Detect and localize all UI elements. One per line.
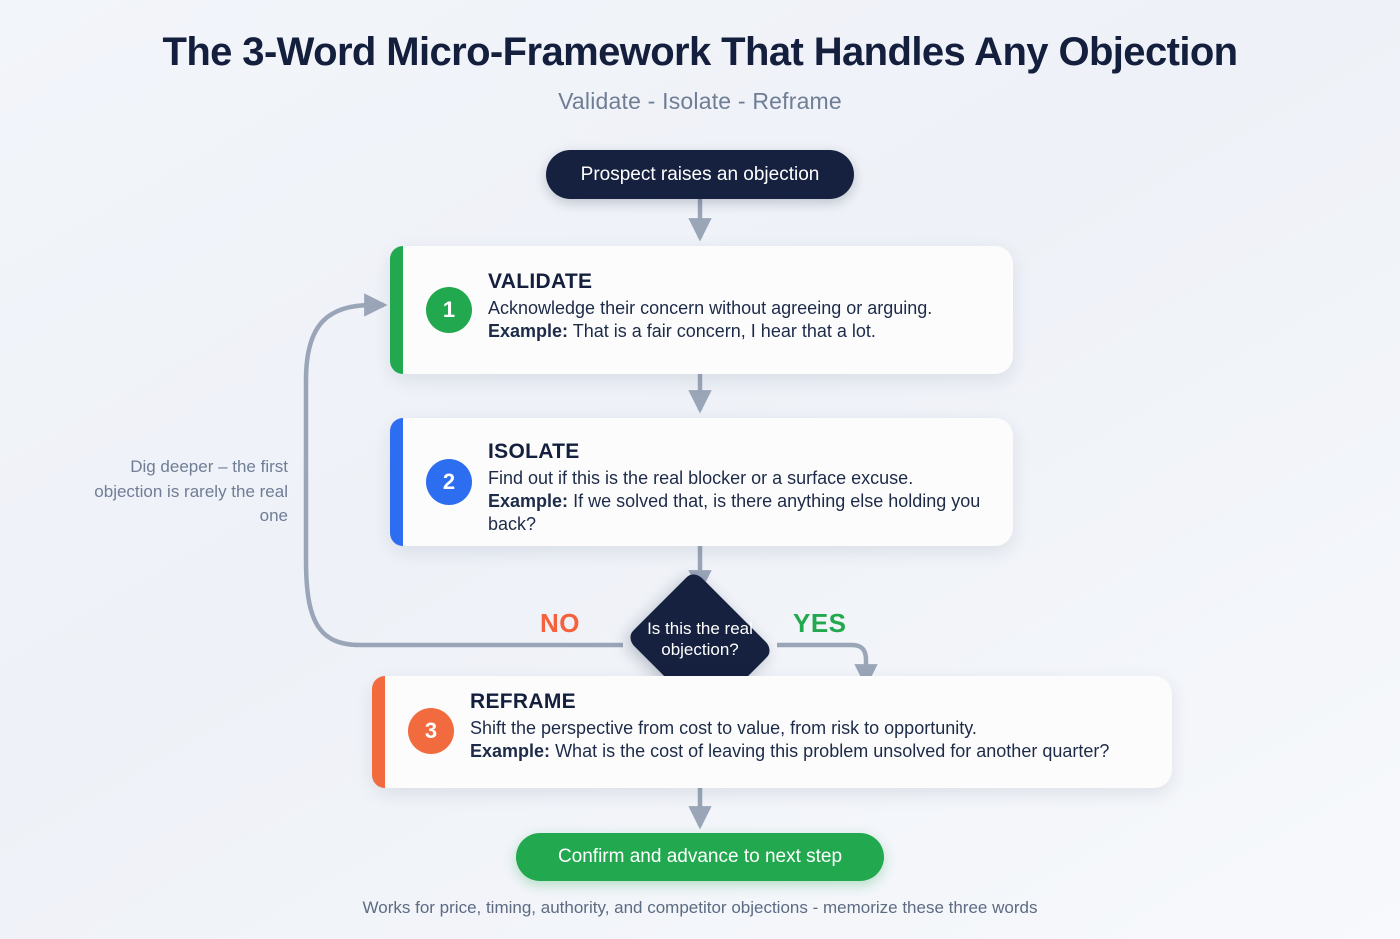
start-node: Prospect raises an objection <box>546 150 854 199</box>
step-card-body-validate: VALIDATE Acknowledge their concern witho… <box>488 270 993 343</box>
step-card-reframe: 3 REFRAME Shift the perspective from cos… <box>372 676 1172 788</box>
step-card-body-reframe: REFRAME Shift the perspective from cost … <box>470 690 1160 763</box>
diagram-canvas: The 3-Word Micro-Framework That Handles … <box>0 0 1400 939</box>
branch-label-no: NO <box>540 608 580 639</box>
step-example-label-reframe: Example: <box>470 741 550 761</box>
footer-note: Works for price, timing, authority, and … <box>0 898 1400 918</box>
decision-label-line1: Is this the real <box>647 619 753 638</box>
step-card-validate: 1 VALIDATE Acknowledge their concern wit… <box>390 246 1013 374</box>
step-desc-text-reframe: Shift the perspective from cost to value… <box>470 718 977 738</box>
step-title-validate: VALIDATE <box>488 270 993 294</box>
step-example-label-validate: Example: <box>488 321 568 341</box>
step-description-validate: Acknowledge their concern without agreei… <box>488 297 993 343</box>
step-card-isolate: 2 ISOLATE Find out if this is the real b… <box>390 418 1013 546</box>
step-title-isolate: ISOLATE <box>488 440 993 464</box>
accent-bar-validate <box>390 246 403 374</box>
step-example-text-validate: That is a fair concern, I hear that a lo… <box>573 321 876 341</box>
step-number-badge-1: 1 <box>426 287 472 333</box>
decision-label-line2: objection? <box>661 640 739 659</box>
step-number-badge-3: 3 <box>408 708 454 754</box>
step-example-label-isolate: Example: <box>488 491 568 511</box>
accent-bar-reframe <box>372 676 385 788</box>
end-node-label: Confirm and advance to next step <box>558 846 842 868</box>
decision-label: Is this the real objection? <box>620 618 780 661</box>
step-description-reframe: Shift the perspective from cost to value… <box>470 717 1160 763</box>
branch-label-yes: YES <box>793 608 847 639</box>
step-description-isolate: Find out if this is the real blocker or … <box>488 467 993 536</box>
step-card-body-isolate: ISOLATE Find out if this is the real blo… <box>488 440 993 536</box>
step-title-reframe: REFRAME <box>470 690 1160 714</box>
loop-annotation: Dig deeper – the first objection is rare… <box>92 455 288 529</box>
step-number-badge-2: 2 <box>426 459 472 505</box>
accent-bar-isolate <box>390 418 403 546</box>
step-desc-text-validate: Acknowledge their concern without agreei… <box>488 298 932 318</box>
step-desc-text-isolate: Find out if this is the real blocker or … <box>488 468 913 488</box>
step-example-text-reframe: What is the cost of leaving this problem… <box>555 741 1109 761</box>
end-node: Confirm and advance to next step <box>516 833 884 881</box>
start-node-label: Prospect raises an objection <box>581 164 820 186</box>
